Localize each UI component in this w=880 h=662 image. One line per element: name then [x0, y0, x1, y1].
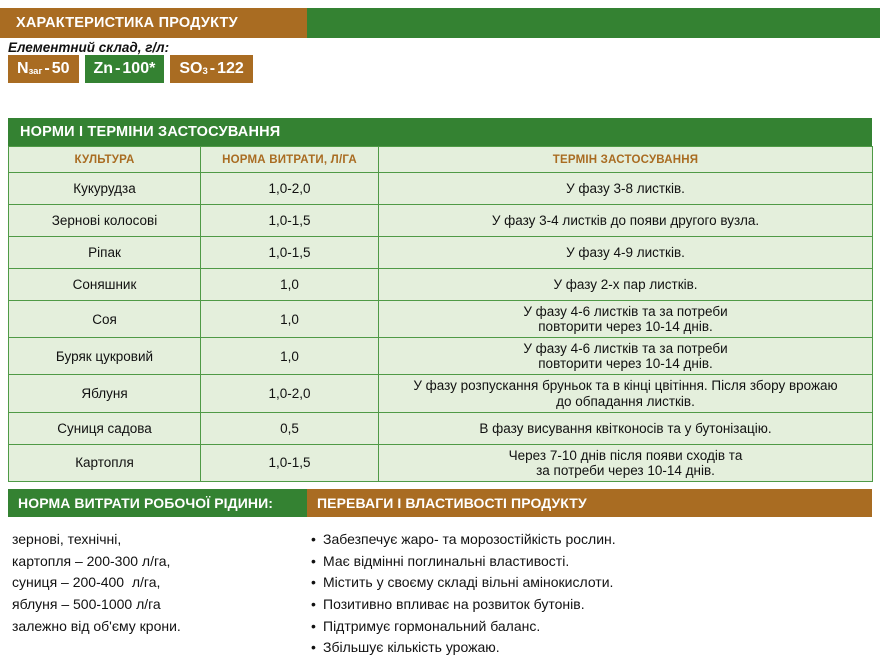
benefits-body: Забезпечує жаро- та морозостійкість росл…: [307, 517, 872, 659]
column-header-rate: НОРМА ВИТРАТИ, Л/ГА: [201, 147, 379, 173]
element-symbol: Zn: [94, 61, 114, 77]
term-line-2: повторити через 10-14 днів.: [538, 319, 713, 334]
cell-term: У фазу 2-х пар листків.: [379, 269, 873, 301]
term-line-1: Через 7-10 днів після появи сходів та: [509, 448, 743, 463]
element-symbol: SO: [179, 61, 202, 77]
cell-culture: Яблуня: [9, 375, 201, 412]
element-badge-zinc: Zn-100*: [85, 55, 165, 83]
table-row: Кукурудза 1,0-2,0 У фазу 3-8 листків.: [9, 173, 873, 205]
header-green-block: [307, 8, 880, 38]
cell-rate: 1,0-2,0: [201, 173, 379, 205]
term-line-1: У фазу 3-4 листків до появи другого вузл…: [492, 213, 759, 228]
cell-culture: Соняшник: [9, 269, 201, 301]
cell-culture: Буряк цукровий: [9, 338, 201, 375]
cell-term: Через 7-10 днів після появи сходів таза …: [379, 444, 873, 481]
table-row: Яблуня 1,0-2,0 У фазу розпускання бруньо…: [9, 375, 873, 412]
term-line-2: до обпадання листків.: [556, 394, 695, 409]
bottom-panels: НОРМА ВИТРАТИ РОБОЧОЇ РІДИНИ: зернові, т…: [8, 489, 872, 659]
table-row: Буряк цукровий 1,0 У фазу 4-6 листків та…: [9, 338, 873, 375]
benefits-header: ПЕРЕВАГИ І ВЛАСТИВОСТІ ПРОДУКТУ: [307, 489, 872, 517]
application-norms-table: КУЛЬТУРА НОРМА ВИТРАТИ, Л/ГА ТЕРМІН ЗАСТ…: [8, 146, 873, 482]
header-brown-block: ХАРАКТЕРИСТИКА ПРОДУКТУ: [0, 8, 307, 38]
cell-rate: 1,0-1,5: [201, 205, 379, 237]
benefits-panel: ПЕРЕВАГИ І ВЛАСТИВОСТІ ПРОДУКТУ Забезпеч…: [307, 489, 872, 659]
table-header: КУЛЬТУРА НОРМА ВИТРАТИ, Л/ГА ТЕРМІН ЗАСТ…: [9, 147, 873, 173]
element-subscript: 3: [202, 67, 207, 77]
term-line-1: В фазу висування квітконосів та у бутоні…: [479, 421, 771, 436]
cell-rate: 1,0-1,5: [201, 237, 379, 269]
table-row: Картопля 1,0-1,5 Через 7-10 днів після п…: [9, 444, 873, 481]
element-separator: -: [113, 61, 122, 77]
cell-culture: Кукурудза: [9, 173, 201, 205]
table-row: Ріпак 1,0-1,5 У фазу 4-9 листків.: [9, 237, 873, 269]
element-badge-sulfur-trioxide: SO3-122: [170, 55, 252, 83]
list-item: Підтримує гормональний баланс.: [311, 616, 868, 638]
working-solution-header: НОРМА ВИТРАТИ РОБОЧОЇ РІДИНИ:: [8, 489, 307, 517]
working-solution-line: картопля – 200-300 л/га,: [12, 551, 303, 573]
list-item: Має відмінні поглинальні властивості.: [311, 551, 868, 573]
product-spec-sheet: ХАРАКТЕРИСТИКА ПРОДУКТУ Елементний склад…: [0, 0, 880, 662]
working-solution-line: суниця – 200-400 л/га,: [12, 572, 303, 594]
table-row: Соя 1,0 У фазу 4-6 листків та за потреби…: [9, 301, 873, 338]
cell-rate: 1,0-2,0: [201, 375, 379, 412]
element-badge-nitrogen: Nзаг-50: [8, 55, 79, 83]
list-item: Забезпечує жаро- та морозостійкість росл…: [311, 529, 868, 551]
working-solution-line: зернові, технічні,: [12, 529, 303, 551]
working-solution-panel: НОРМА ВИТРАТИ РОБОЧОЇ РІДИНИ: зернові, т…: [8, 489, 307, 659]
cell-term: У фазу 3-4 листків до появи другого вузл…: [379, 205, 873, 237]
cell-culture: Суниця садова: [9, 412, 201, 444]
table-row: Зернові колосові 1,0-1,5 У фазу 3-4 лист…: [9, 205, 873, 237]
working-solution-body: зернові, технічні, картопля – 200-300 л/…: [8, 517, 307, 637]
element-symbol: N: [17, 61, 29, 77]
working-solution-title: НОРМА ВИТРАТИ РОБОЧОЇ РІДИНИ:: [18, 495, 273, 511]
cell-term: У фазу розпускання бруньок та в кінці цв…: [379, 375, 873, 412]
cell-culture: Картопля: [9, 444, 201, 481]
cell-rate: 1,0: [201, 301, 379, 338]
cell-term: В фазу висування квітконосів та у бутоні…: [379, 412, 873, 444]
cell-rate: 1,0: [201, 269, 379, 301]
cell-term: У фазу 4-6 листків та за потребиповторит…: [379, 338, 873, 375]
list-item: Збільшує кількість урожаю.: [311, 637, 868, 659]
page-title: ХАРАКТЕРИСТИКА ПРОДУКТУ: [16, 15, 238, 31]
norms-section-header: НОРМИ І ТЕРМІНИ ЗАСТОСУВАННЯ: [8, 118, 872, 146]
element-subscript: заг: [29, 67, 43, 77]
cell-rate: 0,5: [201, 412, 379, 444]
list-item: Містить у своєму складі вільні амінокисл…: [311, 572, 868, 594]
term-line-1: У фазу 4-6 листків та за потреби: [523, 341, 727, 356]
composition-badges: Nзаг-50 Zn-100* SO3-122: [8, 55, 253, 83]
benefits-title: ПЕРЕВАГИ І ВЛАСТИВОСТІ ПРОДУКТУ: [317, 495, 587, 511]
element-separator: -: [42, 61, 51, 77]
norms-section-title: НОРМИ І ТЕРМІНИ ЗАСТОСУВАННЯ: [20, 124, 280, 140]
term-line-2: повторити через 10-14 днів.: [538, 356, 713, 371]
cell-culture: Соя: [9, 301, 201, 338]
element-separator: -: [208, 61, 217, 77]
term-line-1: У фазу розпускання бруньок та в кінці цв…: [413, 378, 837, 393]
element-value: 50: [52, 61, 70, 77]
term-line-2: за потреби через 10-14 днів.: [536, 463, 715, 478]
cell-term: У фазу 4-9 листків.: [379, 237, 873, 269]
table-row: Суниця садова 0,5 В фазу висування квітк…: [9, 412, 873, 444]
cell-culture: Ріпак: [9, 237, 201, 269]
cell-rate: 1,0: [201, 338, 379, 375]
list-item: Позитивно впливає на розвиток бутонів.: [311, 594, 868, 616]
working-solution-line: яблуня – 500-1000 л/га: [12, 594, 303, 616]
element-value: 122: [217, 61, 244, 77]
cell-term: У фазу 4-6 листків та за потребиповторит…: [379, 301, 873, 338]
term-line-1: У фазу 2-х пар листків.: [553, 277, 697, 292]
table-header-row: КУЛЬТУРА НОРМА ВИТРАТИ, Л/ГА ТЕРМІН ЗАСТ…: [9, 147, 873, 173]
cell-term: У фазу 3-8 листків.: [379, 173, 873, 205]
table-row: Соняшник 1,0 У фазу 2-х пар листків.: [9, 269, 873, 301]
cell-rate: 1,0-1,5: [201, 444, 379, 481]
column-header-term: ТЕРМІН ЗАСТОСУВАННЯ: [379, 147, 873, 173]
cell-culture: Зернові колосові: [9, 205, 201, 237]
element-value: 100*: [122, 61, 155, 77]
working-solution-line: залежно від об'єму крони.: [12, 616, 303, 638]
benefits-list: Забезпечує жаро- та морозостійкість росл…: [311, 529, 868, 659]
term-line-1: У фазу 4-9 листків.: [566, 245, 685, 260]
column-header-culture: КУЛЬТУРА: [9, 147, 201, 173]
product-characteristics-header: ХАРАКТЕРИСТИКА ПРОДУКТУ: [0, 8, 880, 38]
term-line-1: У фазу 3-8 листків.: [566, 181, 685, 196]
table-body: Кукурудза 1,0-2,0 У фазу 3-8 листків. Зе…: [9, 173, 873, 482]
term-line-1: У фазу 4-6 листків та за потреби: [523, 304, 727, 319]
composition-label: Елементний склад, г/л:: [8, 40, 169, 55]
